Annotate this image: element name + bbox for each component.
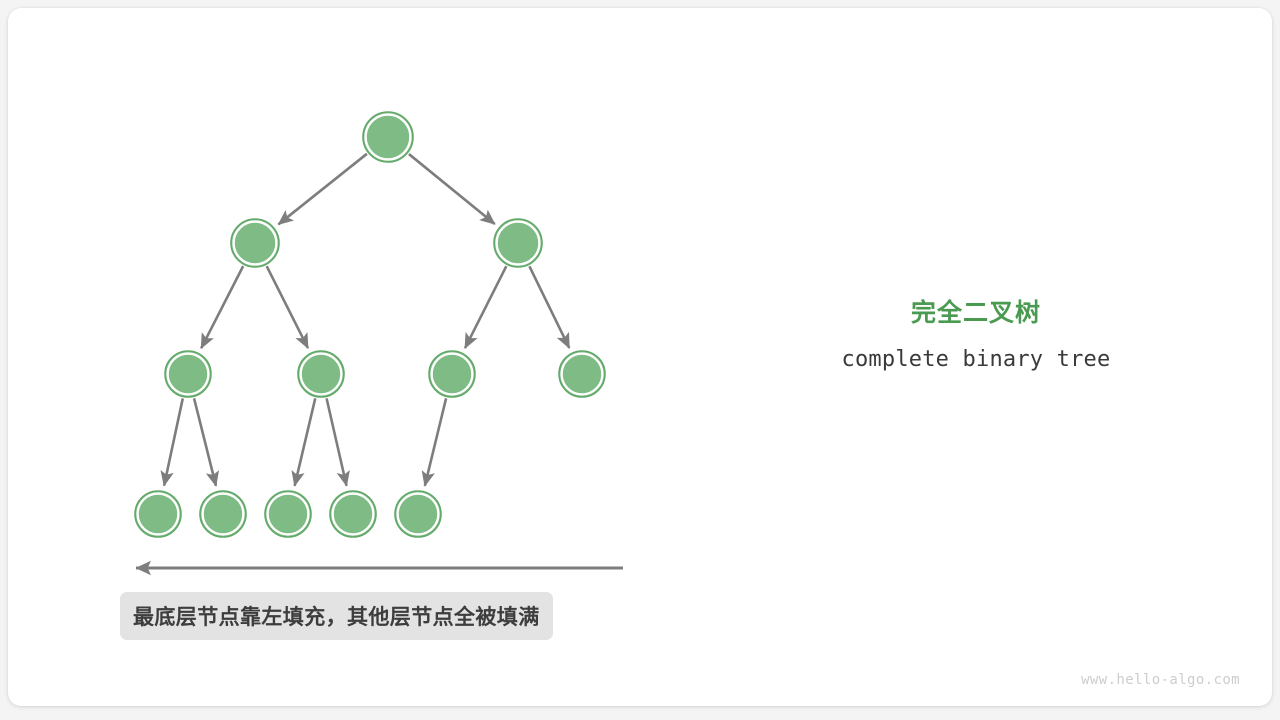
tree-node (559, 351, 605, 397)
tree-edge (164, 398, 183, 485)
tree-edge (327, 398, 347, 485)
tree-node (265, 491, 311, 537)
node-fill (399, 495, 437, 533)
tree-node (231, 219, 279, 267)
node-fill (498, 223, 538, 263)
node-fill (269, 495, 307, 533)
node-fill (204, 495, 242, 533)
caption-badge: 最底层节点靠左填充，其他层节点全被填满 (120, 592, 553, 640)
watermark-label: www.hello-algo.com (1081, 672, 1240, 688)
tree-node (363, 112, 413, 162)
tree-node (200, 491, 246, 537)
node-fill (433, 355, 471, 393)
tree-node (330, 491, 376, 537)
node-fill (139, 495, 177, 533)
tree-edge (267, 266, 308, 348)
tree-node (165, 351, 211, 397)
tree-node (298, 351, 344, 397)
tree-node (395, 491, 441, 537)
tree-edge (194, 398, 216, 486)
node-fill (334, 495, 372, 533)
tree-node (494, 219, 542, 267)
tree-edge (295, 398, 316, 485)
page-background: 最底层节点靠左填充，其他层节点全被填满 完全二叉树 complete binar… (0, 0, 1280, 720)
tree-edge (201, 266, 243, 348)
tree-edge (465, 266, 506, 348)
diagram-card: 最底层节点靠左填充，其他层节点全被填满 完全二叉树 complete binar… (8, 8, 1272, 706)
node-fill (563, 355, 601, 393)
tree-edge (425, 398, 446, 486)
tree-edge (278, 154, 366, 224)
node-fill (169, 355, 207, 393)
tree-edge (529, 266, 569, 348)
tree-edge (409, 154, 495, 224)
node-fill (302, 355, 340, 393)
legend-title: 完全二叉树 (768, 298, 1184, 328)
tree-nodes (135, 112, 605, 537)
tree-node (135, 491, 181, 537)
node-fill (367, 116, 409, 158)
tree-edges (164, 154, 569, 486)
legend-subtitle: complete binary tree (768, 347, 1184, 373)
caption-label: 最底层节点靠左填充，其他层节点全被填满 (133, 601, 540, 631)
tree-node (429, 351, 475, 397)
node-fill (235, 223, 275, 263)
legend-block: 完全二叉树 complete binary tree (768, 298, 1184, 373)
